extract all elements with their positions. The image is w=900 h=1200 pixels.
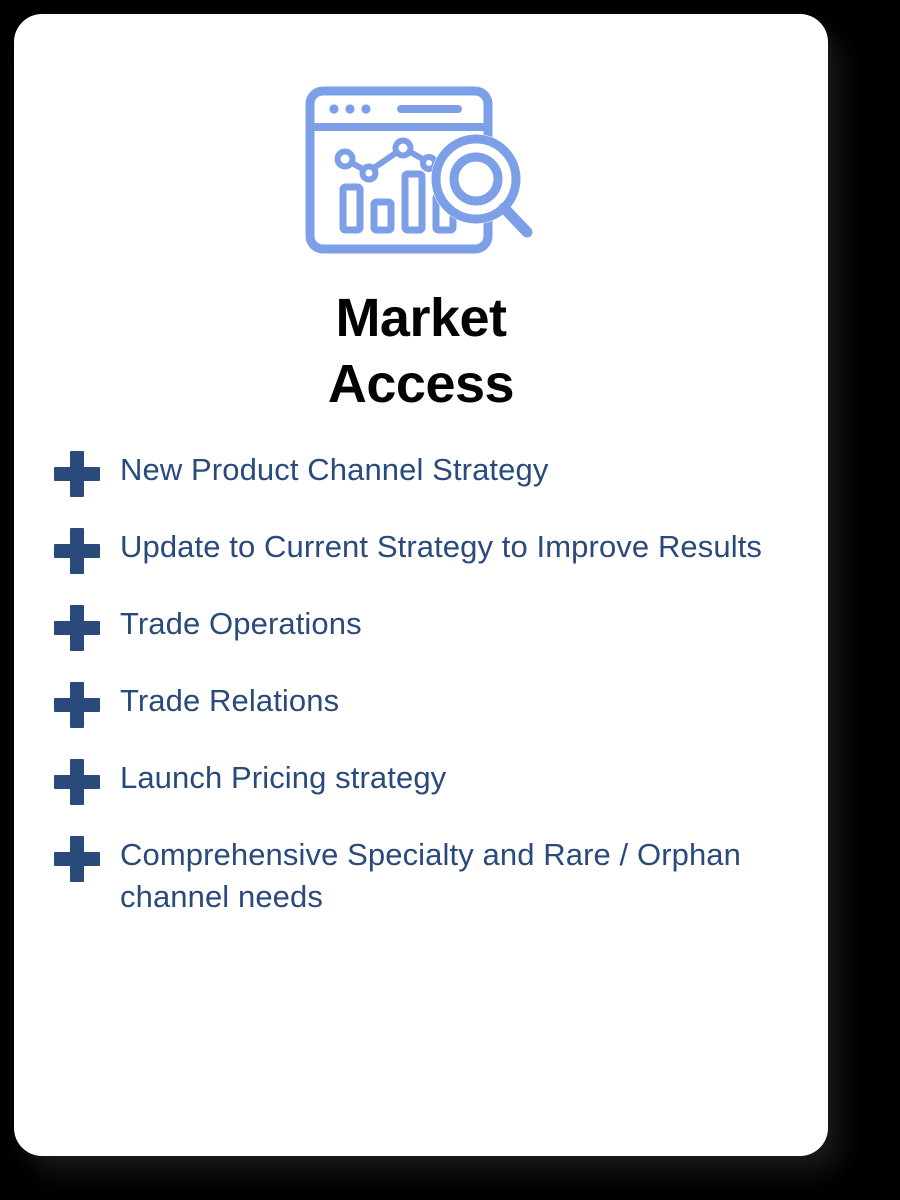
list-item[interactable]: Launch Pricing strategy (54, 756, 810, 805)
list-item[interactable]: New Product Channel Strategy (54, 448, 810, 497)
list-item[interactable]: Trade Relations (54, 679, 810, 728)
card-icon-container (14, 14, 828, 264)
plus-icon (54, 451, 100, 497)
list-item-label: Comprehensive Specialty and Rare / Orpha… (120, 833, 810, 918)
plus-icon (54, 605, 100, 651)
list-item[interactable]: Comprehensive Specialty and Rare / Orpha… (54, 833, 810, 918)
card-content: Market Access New Product Channel Strate… (14, 14, 828, 1156)
market-analytics-window-icon (305, 86, 537, 264)
plus-icon (54, 682, 100, 728)
plus-icon (54, 759, 100, 805)
page-title-line-2: Access (54, 352, 788, 418)
list-item-label: Launch Pricing strategy (120, 756, 446, 799)
list-item-label: Trade Operations (120, 602, 362, 645)
page-title: Market Access (14, 286, 828, 418)
market-access-card: Market Access New Product Channel Strate… (14, 14, 828, 1156)
list-item-label: Update to Current Strategy to Improve Re… (120, 525, 762, 568)
page-title-line-1: Market (54, 286, 788, 352)
list-item[interactable]: Update to Current Strategy to Improve Re… (54, 525, 810, 574)
plus-icon (54, 528, 100, 574)
page-background: Market Access New Product Channel Strate… (0, 0, 900, 1200)
list-item-label: New Product Channel Strategy (120, 448, 548, 491)
feature-list: New Product Channel Strategy Update to C… (14, 448, 828, 918)
plus-icon (54, 836, 100, 882)
list-item[interactable]: Trade Operations (54, 602, 810, 651)
list-item-label: Trade Relations (120, 679, 339, 722)
